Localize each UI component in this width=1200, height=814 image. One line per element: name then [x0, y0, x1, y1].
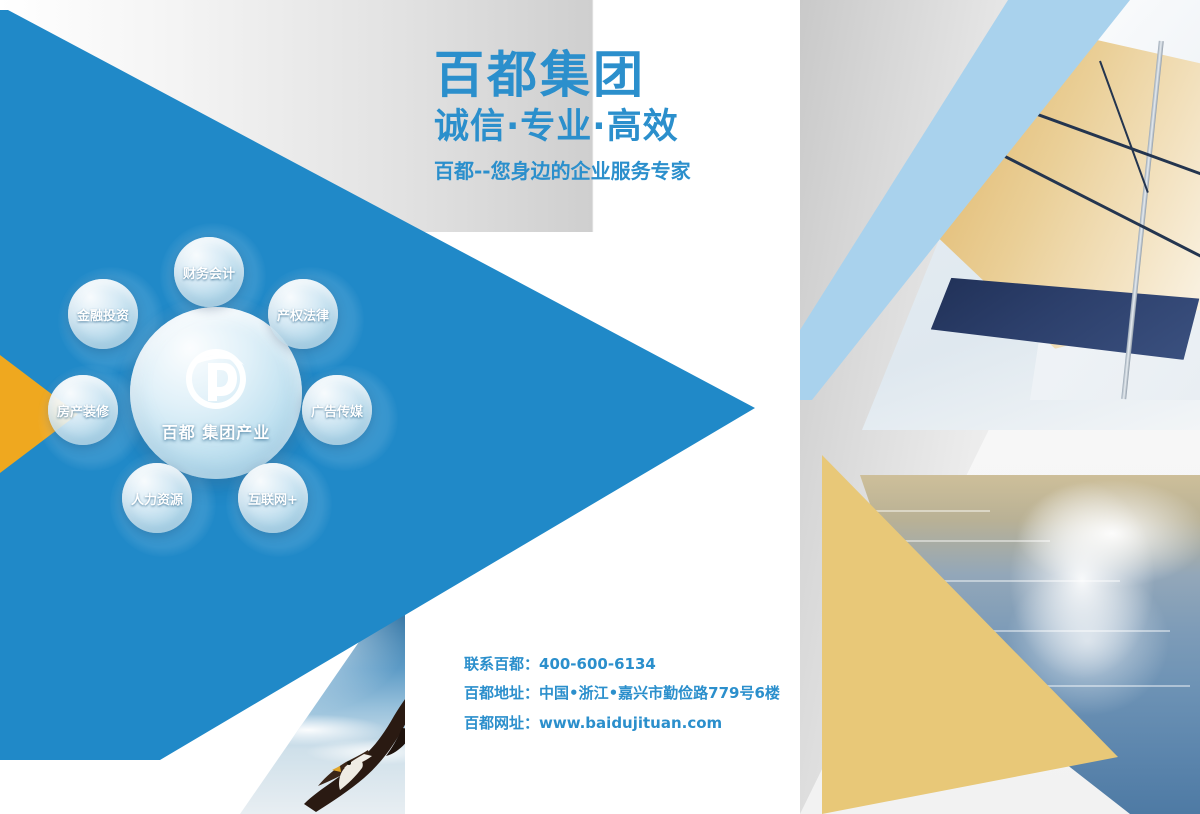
bubble-label: 广告传媒: [311, 401, 363, 420]
headline-block: 百都集团 诚信·专业·高效 百都--您身边的企业服务专家: [434, 48, 794, 183]
bubble-property-law[interactable]: 产权法律: [268, 279, 338, 349]
bubble-label: 财务会计: [183, 263, 235, 282]
bubble-label: 房产装修: [57, 401, 109, 420]
bubble-real-estate-decoration[interactable]: 房产装修: [48, 375, 118, 445]
bubble-advertising-media[interactable]: 广告传媒: [302, 375, 372, 445]
right-panel: 百都集团: [800, 0, 1200, 814]
bubble-human-resources[interactable]: 人力资源: [122, 463, 192, 533]
contact-website[interactable]: 百都网址：www.baidujituan.com: [464, 709, 794, 738]
industry-bubble-diagram: 百都 集团产业 财务会计 产权法律 广告传媒 互联网+ 人力资源 房产装修: [30, 215, 410, 555]
contact-address: 百都地址：中国•浙江•嘉兴市勤俭路779号6楼: [464, 679, 794, 708]
page-tagline: 百都--您身边的企业服务专家: [434, 159, 794, 183]
contact-phone: 联系百都：400-600-6134: [464, 650, 794, 679]
center-bubble-label: 百都 集团产业: [162, 419, 271, 443]
brochure-cover-page: 百都 集团产业 财务会计 产权法律 广告传媒 互联网+ 人力资源 房产装修: [0, 0, 1200, 814]
page-title: 百都集团: [434, 48, 794, 102]
bubble-finance-investment[interactable]: 金融投资: [68, 279, 138, 349]
bubble-label: 人力资源: [131, 489, 183, 508]
bubble-finance-accounting[interactable]: 财务会计: [174, 237, 244, 307]
contact-block: 联系百都：400-600-6134 百都地址：中国•浙江•嘉兴市勤俭路779号6…: [464, 650, 794, 738]
bubble-label: 金融投资: [77, 305, 129, 324]
bubble-label: 产权法律: [277, 305, 329, 324]
water-streak: [920, 580, 1120, 582]
left-panel: 百都 集团产业 财务会计 产权法律 广告传媒 互联网+ 人力资源 房产装修: [0, 0, 800, 814]
bubble-label: 互联网+: [248, 489, 298, 508]
eagle-icon: [302, 662, 405, 814]
baidu-d-circle-icon: [180, 343, 252, 415]
bubble-internet-plus[interactable]: 互联网+: [238, 463, 308, 533]
page-slogan: 诚信·专业·高效: [434, 108, 794, 147]
